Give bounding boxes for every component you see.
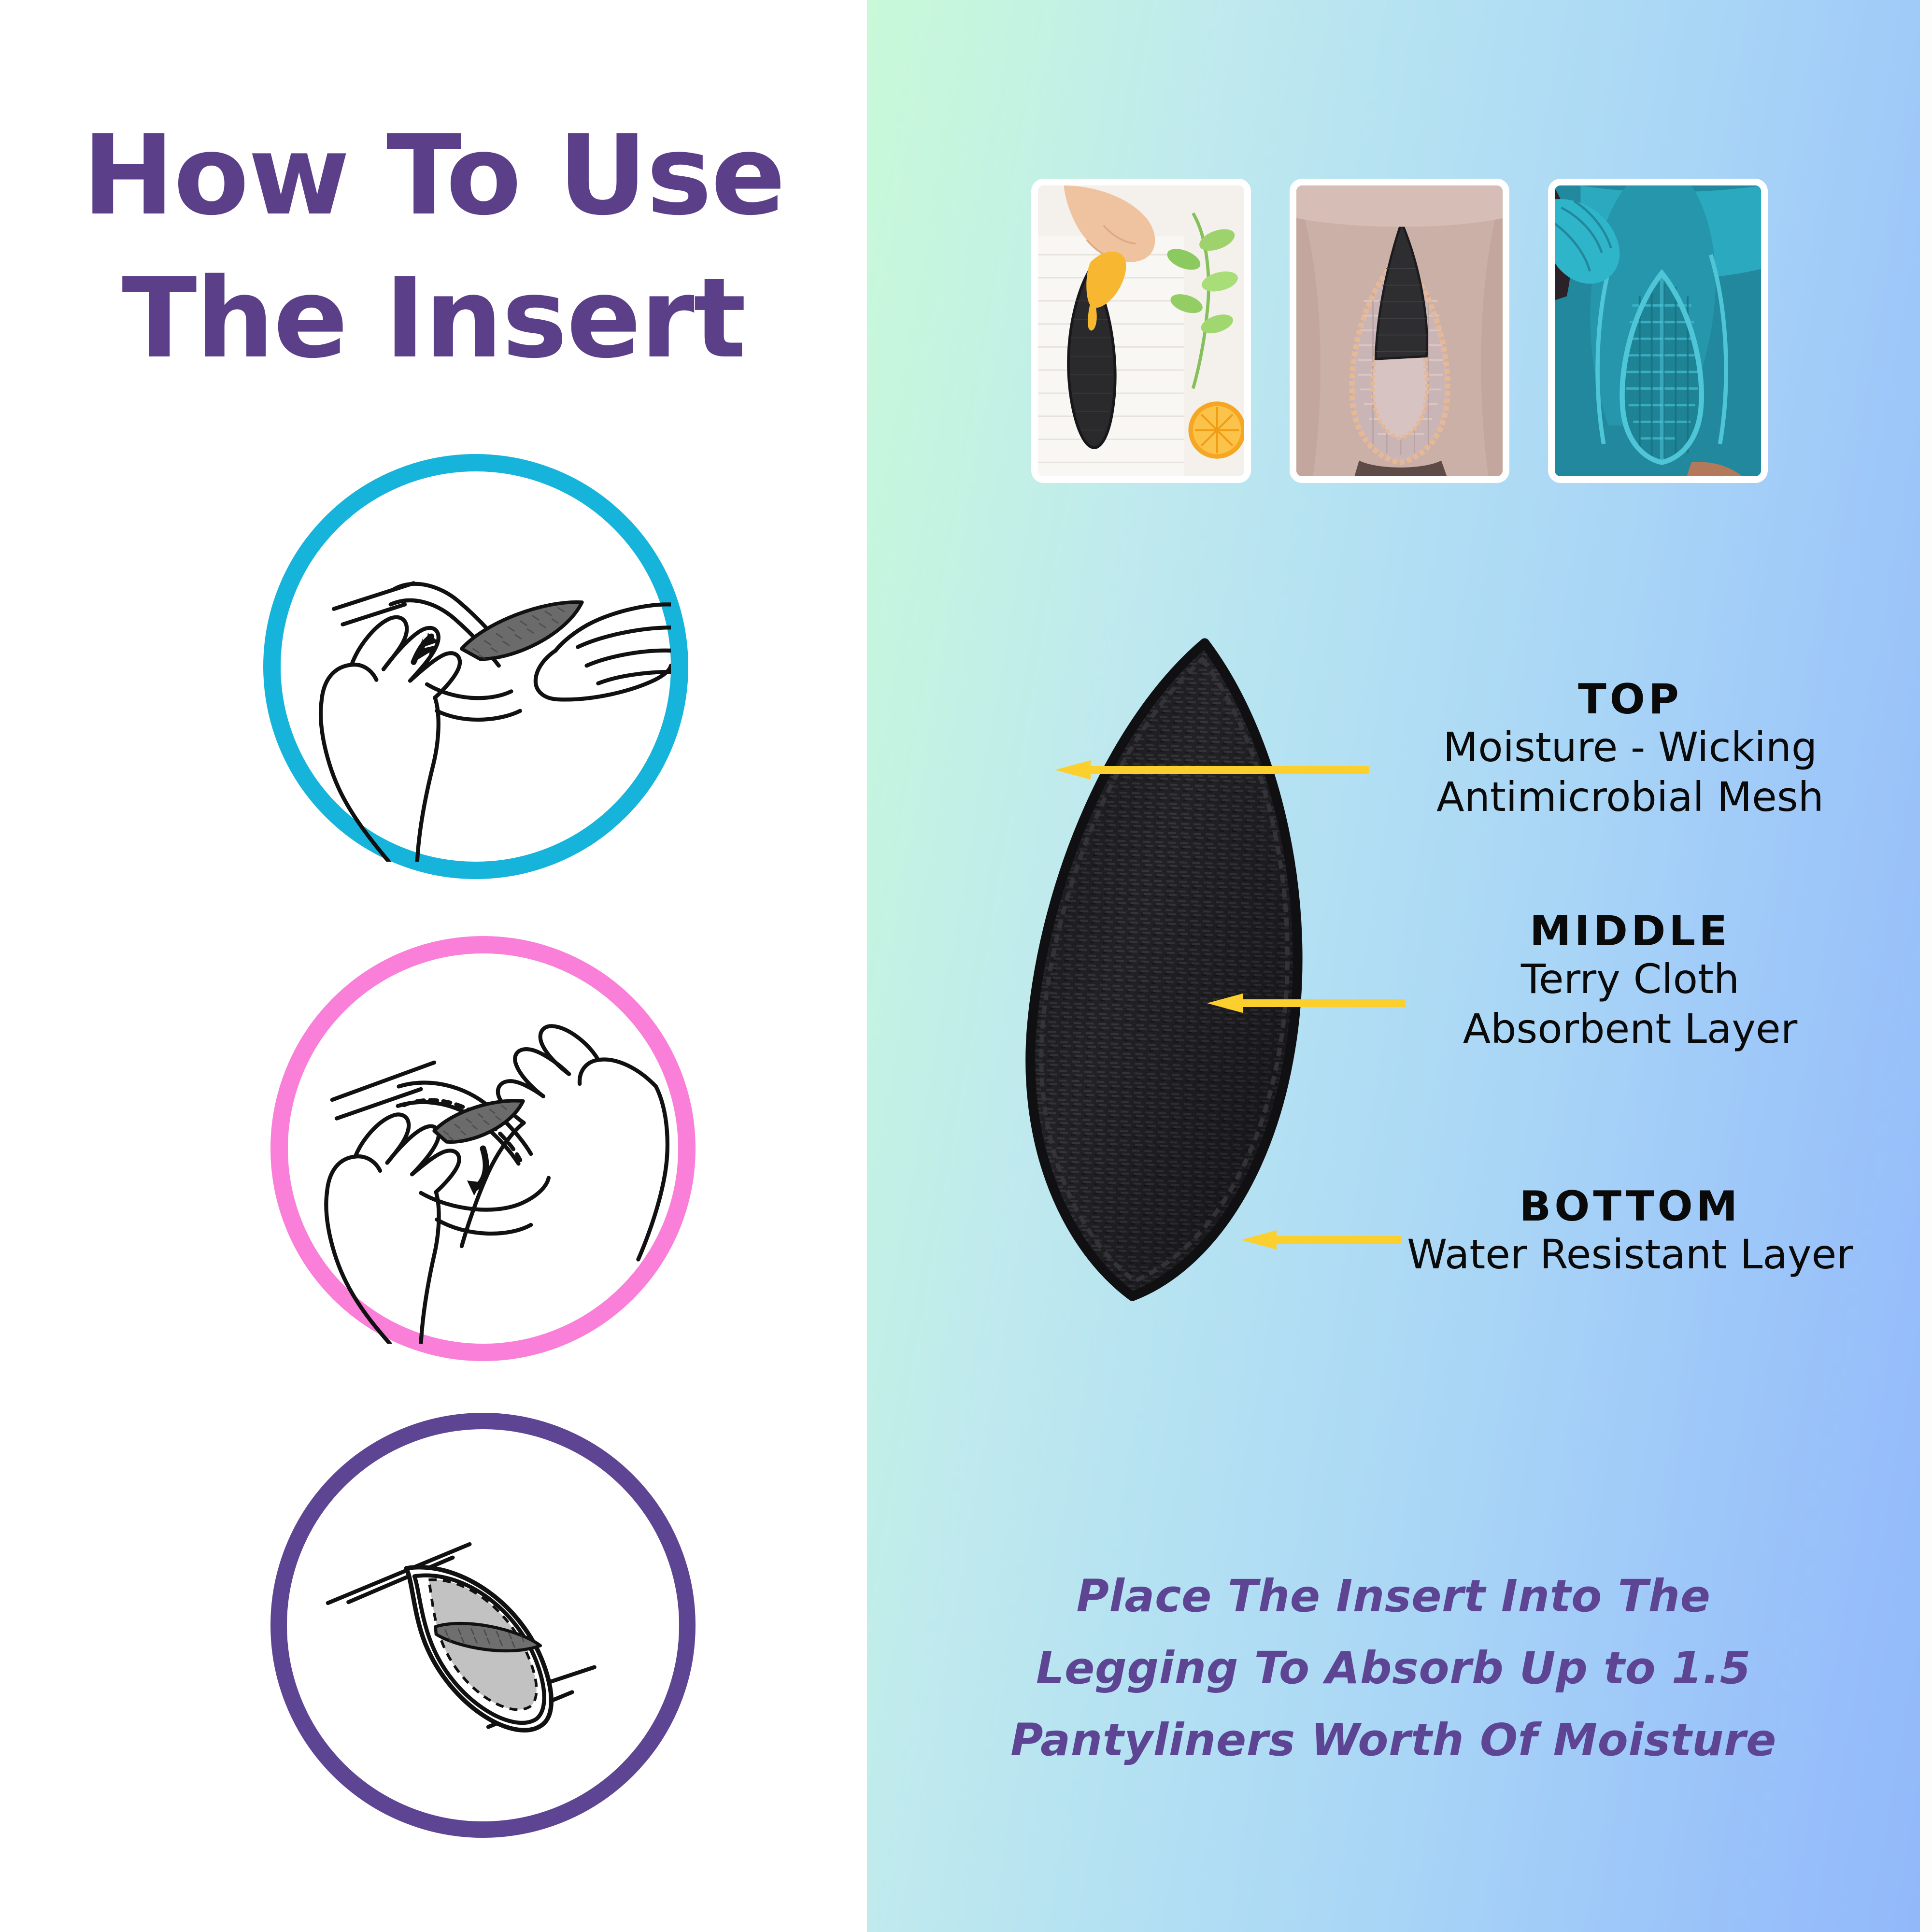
page-title-line-2: The Insert (0, 247, 867, 390)
step-2-circle (270, 936, 696, 1361)
layer-heading: TOP (1369, 676, 1891, 723)
layer-body-line-1: Terry Cloth (1369, 954, 1891, 1004)
page-title: How To Use The Insert (0, 104, 867, 390)
infographic-page: How To Use The Insert (0, 0, 1932, 1932)
layer-label-bottom: BOTTOM Water Resistant Layer (1369, 1183, 1891, 1279)
layer-body-line-2: Absorbent Layer (1369, 1004, 1891, 1053)
layer-body-line-1: Moisture - Wicking (1369, 723, 1891, 772)
caption-line-3: Pantyliners Worth Of Moisture (906, 1704, 1881, 1776)
layer-body-line-2: Antimicrobial Mesh (1369, 772, 1891, 822)
layer-body-line-1: Water Resistant Layer (1369, 1230, 1891, 1279)
page-title-line-1: How To Use (82, 111, 784, 240)
layer-label-top: TOP Moisture - Wicking Antimicrobial Mes… (1369, 676, 1891, 822)
photo-teal-legging-gusset-icon (1555, 185, 1761, 476)
bottom-caption: Place The Insert Into The Legging To Abs… (906, 1560, 1881, 1776)
product-photo-2 (1290, 179, 1509, 483)
layer-label-middle: MIDDLE Terry Cloth Absorbent Layer (1369, 908, 1891, 1053)
step-1-circle (263, 454, 688, 879)
layer-heading: BOTTOM (1369, 1183, 1891, 1230)
photo-absorbency-test-icon (1038, 185, 1244, 476)
caption-line-2: Legging To Absorb Up to 1.5 (906, 1632, 1881, 1704)
photo-insert-in-beige-legging-icon (1296, 185, 1503, 476)
product-photo-1 (1031, 179, 1251, 483)
step-2-illustration-icon (288, 953, 678, 1344)
step-illustrations (0, 449, 867, 1898)
arrow-top (1053, 759, 1369, 781)
product-photo-strip (985, 179, 1816, 483)
product-photo-3 (1548, 179, 1768, 483)
right-panel: TOP Moisture - Wicking Antimicrobial Mes… (867, 0, 1920, 1932)
caption-line-1: Place The Insert Into The (906, 1560, 1881, 1632)
step-3-circle (270, 1413, 696, 1838)
arrow-left-icon (1053, 759, 1369, 781)
left-panel: How To Use The Insert (0, 0, 867, 1932)
step-3-illustration-icon (287, 1429, 679, 1821)
layer-heading: MIDDLE (1369, 908, 1891, 954)
step-1-illustration-icon (281, 471, 671, 862)
